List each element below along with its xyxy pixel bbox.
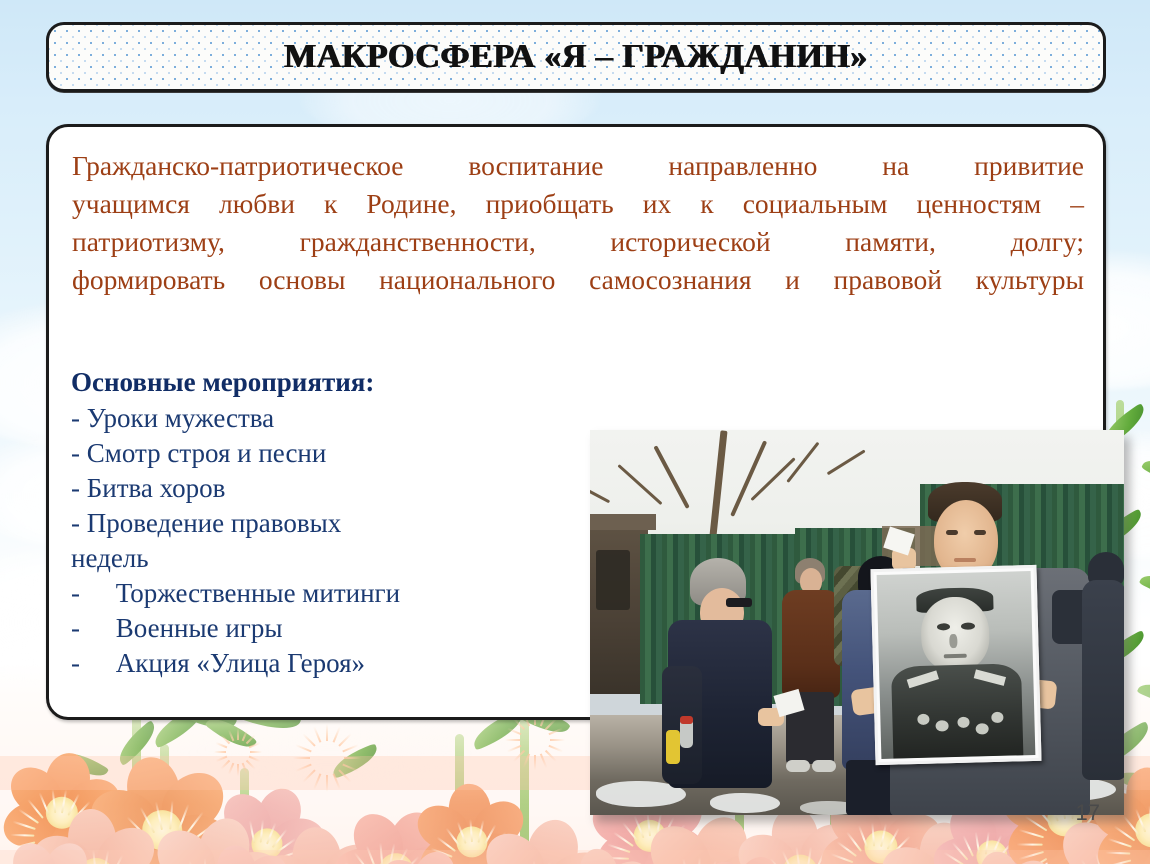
photo-eye <box>946 530 958 535</box>
event-photo <box>590 430 1124 815</box>
event-list-item-label: Военные игры <box>109 613 283 643</box>
stem-leaf <box>1141 451 1150 495</box>
photo-soldier-portrait-image <box>877 571 1036 759</box>
events-heading: Основные мероприятия: <box>71 365 501 399</box>
lead-paragraph: Гражданско-патриотическое воспитание нап… <box>72 147 1084 299</box>
page-title: МАКРОСФЕРА «Я – ГРАЖДАНИН» <box>284 38 868 76</box>
page-number: 17 <box>1076 800 1100 826</box>
photo-shoe <box>812 760 836 772</box>
events-list: Основные мероприятия: - Уроки мужества- … <box>71 365 501 681</box>
event-list-item-label: Уроки мужества <box>80 403 274 433</box>
event-list-item: - Уроки мужества <box>71 401 501 436</box>
event-photo-image <box>590 430 1124 815</box>
portrait-medal <box>976 723 989 734</box>
stem-leaf <box>1137 677 1150 713</box>
list-dash-marker: - <box>71 646 109 681</box>
photo-shoe <box>786 760 810 772</box>
portrait-nose <box>949 634 957 649</box>
photo-coat <box>782 590 840 698</box>
stem-leaf <box>1139 567 1150 607</box>
event-list-item: - Акция «Улица Героя» <box>71 646 501 681</box>
list-dash-marker: - <box>71 506 80 541</box>
list-dash-marker: - <box>71 471 80 506</box>
photo-coat <box>1082 580 1124 780</box>
event-list-item-label: Смотр строя и песни <box>80 438 326 468</box>
photo-snow-patch <box>710 793 780 813</box>
content-panel: Гражданско-патриотическое воспитание нап… <box>46 124 1106 720</box>
photo-backpack-strap <box>666 730 680 764</box>
event-list-item: - Битва хоров <box>71 471 501 506</box>
event-list-item: - Торжественные митинги <box>71 576 501 611</box>
photo-soldier-portrait <box>870 565 1041 765</box>
lead-line: Гражданско-патриотическое воспитание нап… <box>72 147 1084 185</box>
slide-title-box: МАКРОСФЕРА «Я – ГРАЖДАНИН» <box>46 22 1106 92</box>
list-dash-marker: - <box>71 611 109 646</box>
photo-mouth <box>954 558 976 562</box>
event-list-item-label: Битва хоров <box>80 473 225 503</box>
flower-starburst <box>310 724 344 758</box>
event-list-item: - Военные игры <box>71 611 501 646</box>
event-list-item-continuation: недель <box>71 541 501 576</box>
flower-starburst <box>226 728 250 752</box>
event-list-item: - Проведение правовых <box>71 506 501 541</box>
list-dash-marker: - <box>71 576 109 611</box>
photo-shed-roof <box>590 514 656 530</box>
event-list-item-label: Проведение правовых <box>80 508 341 538</box>
event-list-item: - Смотр строя и песни <box>71 436 501 471</box>
photo-sunglasses <box>726 598 752 607</box>
list-dash-marker: - <box>71 436 80 471</box>
lead-line: формировать основы национального самосоз… <box>72 261 1084 299</box>
slide: МАКРОСФЕРА «Я – ГРАЖДАНИН» Гражданско-па… <box>0 0 1150 864</box>
portrait-medal <box>957 716 970 727</box>
photo-shed-panel <box>596 550 630 610</box>
photo-eye <box>974 530 986 535</box>
event-list-item-label: Акция «Улица Героя» <box>109 648 365 678</box>
photo-bottle-cap <box>680 716 693 724</box>
list-dash-marker: - <box>71 401 80 436</box>
event-list-item-label: Торжественные митинги <box>109 578 400 608</box>
lead-line: патриотизму, гражданственности, историче… <box>72 223 1084 261</box>
lead-line: учащимся любви к Родине, приобщать их к … <box>72 185 1084 223</box>
